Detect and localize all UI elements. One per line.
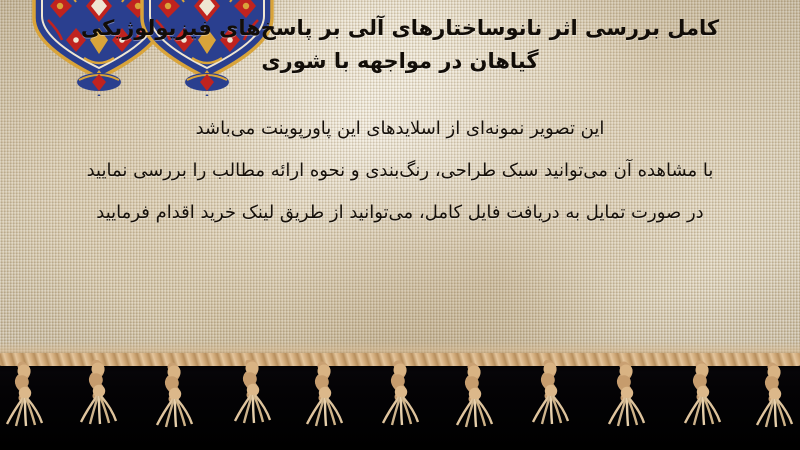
presentation-slide: کامل بررسی اثر نانوساختارهای آلی بر پاسخ… <box>0 0 800 450</box>
slide-title-line-2: گیاهان در مواجهه با شوری <box>0 45 800 78</box>
slide-title-line-1: کامل بررسی اثر نانوساختارهای آلی بر پاسخ… <box>0 12 800 45</box>
slide-body-line-3: در صورت تمایل به دریافت فایل کامل، می‌تو… <box>0 192 800 234</box>
slide-body-line-1: این تصویر نمونه‌ای از اسلایدهای این پاور… <box>0 108 800 150</box>
carpet-tassel-fringe <box>0 360 800 450</box>
slide-title: کامل بررسی اثر نانوساختارهای آلی بر پاسخ… <box>0 12 800 78</box>
slide-body: این تصویر نمونه‌ای از اسلایدهای این پاور… <box>0 108 800 234</box>
slide-body-line-2: با مشاهده آن می‌توانید سبک طراحی، رنگ‌بن… <box>0 150 800 192</box>
